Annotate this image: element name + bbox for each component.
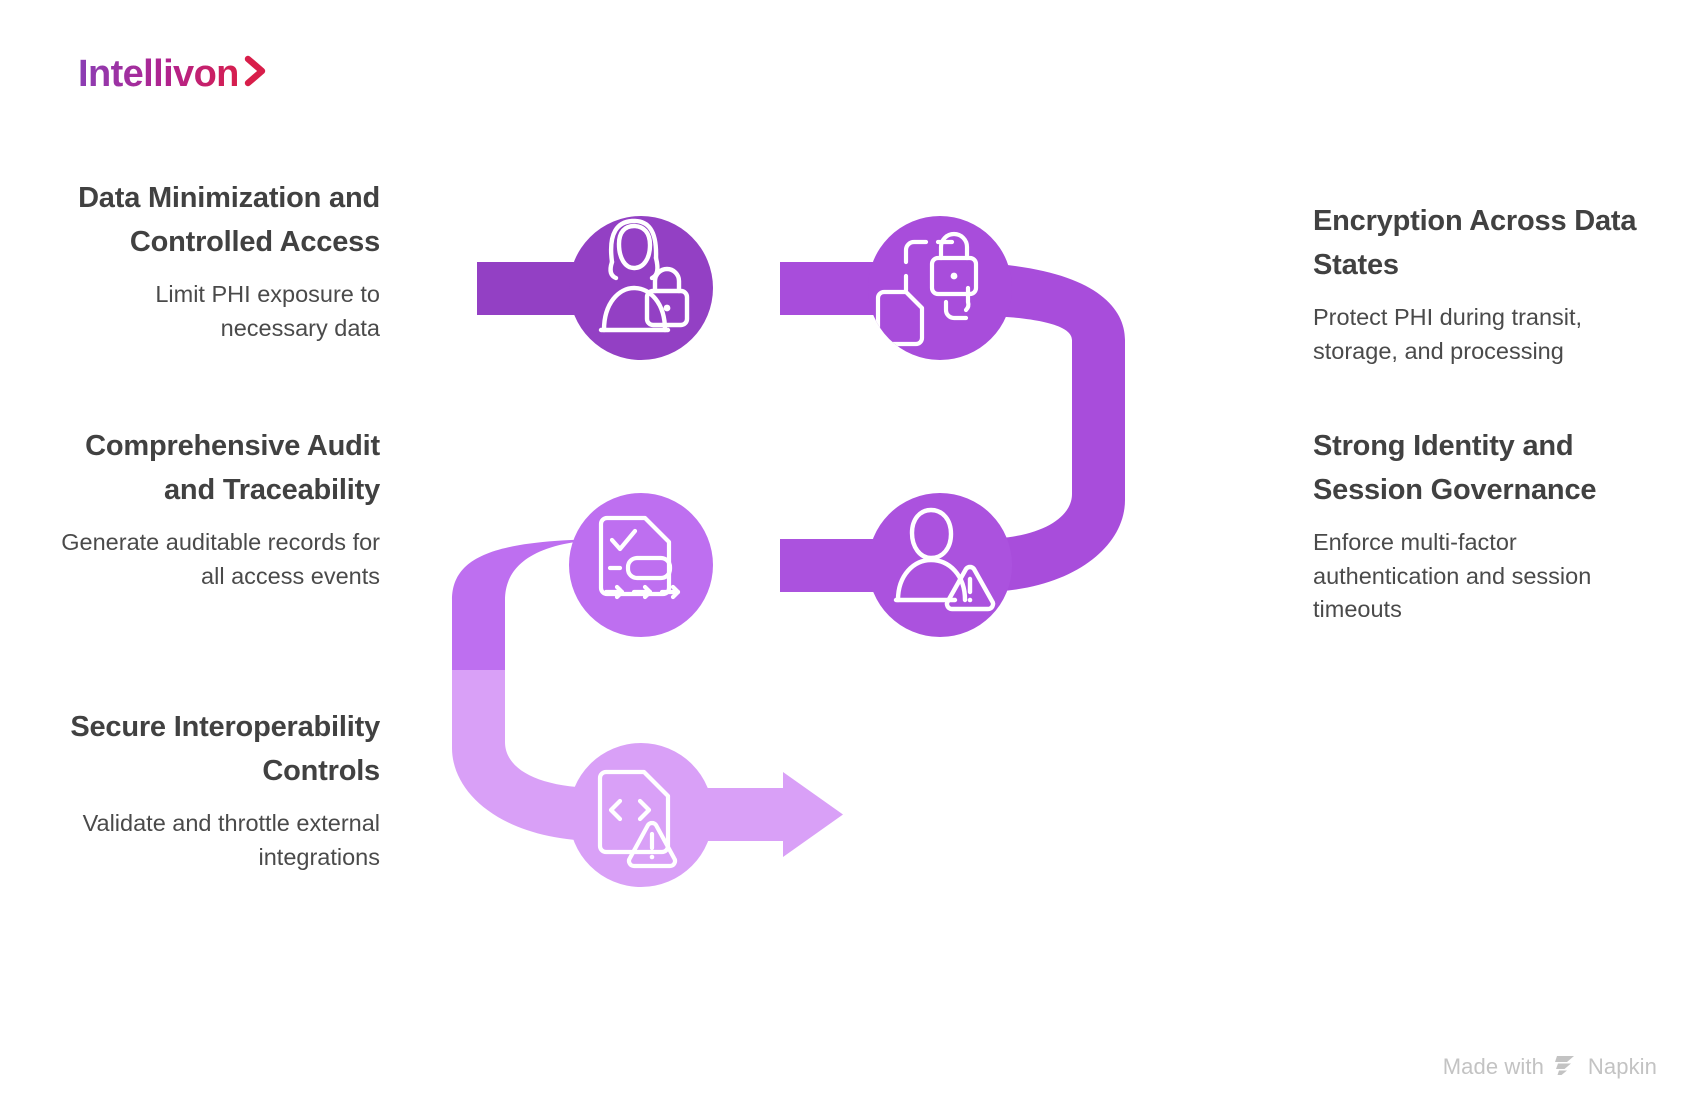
step-5-title: Secure Interoperability Controls [50, 705, 380, 793]
step-1-title: Data Minimization and Controlled Access [50, 176, 380, 264]
napkin-label: Napkin [1588, 1054, 1657, 1080]
step-2-text-block: Encryption Across Data States Protect PH… [1313, 199, 1663, 368]
made-with-label: Made with [1443, 1054, 1544, 1080]
node-circle [569, 493, 713, 637]
infographic-canvas: Intellivon [0, 0, 1705, 1116]
napkin-logo-icon [1553, 1052, 1579, 1082]
step-3-title: Strong Identity and Session Governance [1313, 424, 1663, 512]
step-4-description: Generate auditable records for all acces… [50, 526, 380, 593]
flow-node-3[interactable] [868, 493, 1012, 637]
step-2-title: Encryption Across Data States [1313, 199, 1663, 287]
flow-ribbon [452, 262, 1125, 857]
step-1-text-block: Data Minimization and Controlled Access … [50, 176, 380, 345]
step-1-description: Limit PHI exposure to necessary data [50, 278, 380, 345]
step-2-description: Protect PHI during transit, storage, and… [1313, 301, 1663, 368]
step-5-text-block: Secure Interoperability Controls Validat… [50, 705, 380, 874]
flow-node-4[interactable] [569, 493, 713, 637]
flow-node-2[interactable] [868, 216, 1012, 360]
made-with-napkin-footer[interactable]: Made with Napkin [1443, 1052, 1657, 1082]
step-3-description: Enforce multi-factor authentication and … [1313, 526, 1663, 626]
step-5-description: Validate and throttle external integrati… [50, 807, 380, 874]
step-4-text-block: Comprehensive Audit and Traceability Gen… [50, 424, 380, 593]
arrow-right-head [783, 772, 843, 857]
node-circle [868, 216, 1012, 360]
flow-node-1[interactable] [569, 216, 713, 360]
step-3-text-block: Strong Identity and Session Governance E… [1313, 424, 1663, 626]
step-4-title: Comprehensive Audit and Traceability [50, 424, 380, 512]
flow-node-5[interactable] [569, 743, 713, 887]
